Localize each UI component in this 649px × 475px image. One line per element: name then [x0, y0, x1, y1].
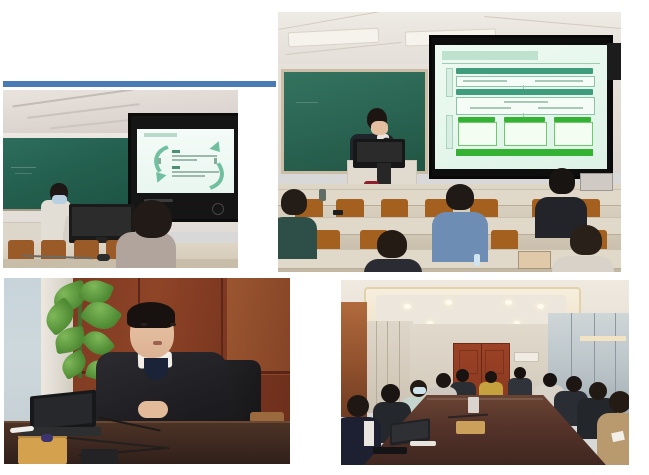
- screen-power-icon: [212, 203, 224, 215]
- slide-side-label: [446, 115, 453, 149]
- slide-side-label: [158, 158, 161, 164]
- attendee-head: [485, 371, 497, 383]
- chalk-mark: [296, 102, 319, 103]
- lecture-female-scene: [3, 90, 238, 268]
- slide-text-line: [172, 150, 180, 153]
- chalk-mark: [15, 173, 31, 174]
- attendee-head: [446, 184, 474, 210]
- attendee-head: [570, 225, 602, 255]
- microphone: [468, 397, 480, 414]
- pen: [410, 441, 436, 447]
- slide-text-line: [172, 155, 217, 157]
- paper-sheet: [611, 431, 625, 442]
- person-hair: [127, 302, 175, 328]
- person-eye: [170, 323, 176, 326]
- slide-column-box: [504, 122, 547, 146]
- attendee-body: [432, 212, 488, 261]
- attendee-face-mask: [413, 387, 426, 394]
- table-highlight: [427, 398, 542, 400]
- laptop-screen: [34, 393, 92, 429]
- attendee-head: [549, 168, 575, 194]
- panel-seam: [399, 321, 400, 414]
- slide-column-box: [554, 122, 594, 146]
- photo-interview: [4, 278, 290, 464]
- photo-meeting: [341, 280, 629, 465]
- attendee-head: [514, 367, 526, 379]
- photo-collage-page: [0, 0, 649, 475]
- laptop: [580, 173, 613, 191]
- person-eye: [141, 323, 147, 326]
- attendee-head: [281, 189, 307, 215]
- presenter-face: [371, 121, 388, 135]
- presentation-slide: [137, 129, 234, 193]
- phone: [333, 210, 343, 215]
- slide-rule: [442, 63, 600, 64]
- attendee-head: [589, 382, 607, 400]
- downlight: [537, 304, 544, 309]
- slide-text-line: [535, 80, 583, 82]
- mouse: [41, 434, 53, 442]
- monitor-screen: [72, 207, 131, 236]
- meeting-scene: [341, 280, 629, 465]
- attendee-body: [278, 217, 317, 259]
- slide-text-line: [172, 159, 197, 161]
- slide-text-line: [538, 107, 583, 109]
- attendee-head: [566, 376, 582, 392]
- slide-header-bar: [456, 68, 593, 74]
- accent-bar: [3, 81, 276, 87]
- phone: [373, 447, 408, 454]
- light-reflection: [580, 336, 626, 342]
- attendee-body: [552, 256, 614, 272]
- water-bottle: [474, 254, 480, 266]
- attendee-head: [436, 373, 451, 388]
- attendee-shirt: [364, 421, 374, 447]
- laptop: [518, 251, 551, 269]
- monitor-screen: [357, 142, 402, 162]
- attendee-head: [609, 391, 629, 413]
- slide-text-line: [172, 166, 180, 169]
- equipment-box: [81, 449, 118, 464]
- paper-bag: [18, 438, 67, 464]
- slide-column-box: [458, 122, 498, 146]
- slide-title-block: [442, 51, 538, 60]
- slide-footer-bar: [456, 149, 593, 155]
- slide-side-label: [214, 158, 217, 164]
- photo-lecture-male: [278, 12, 621, 272]
- slide-text-line: [504, 101, 549, 103]
- equipment-box: [456, 421, 485, 434]
- interview-scene: [4, 278, 290, 464]
- person-mouth: [153, 341, 162, 345]
- panel-seam: [376, 321, 377, 414]
- person-hands: [138, 401, 168, 418]
- attendee-head: [543, 373, 557, 387]
- presentation-slide: [435, 45, 606, 169]
- attendee-body: [364, 259, 422, 272]
- chalkboard: [3, 138, 142, 211]
- attendee-head: [377, 230, 407, 258]
- attendee-head: [132, 200, 172, 238]
- presenter-face-mask: [52, 195, 67, 204]
- wall-speaker: [607, 43, 621, 79]
- lecture-male-scene: [278, 12, 621, 272]
- laptop-screen: [392, 420, 427, 442]
- mouse: [97, 254, 110, 261]
- cup: [319, 189, 326, 201]
- slide-text-line: [172, 171, 219, 173]
- attendee-head: [381, 384, 400, 403]
- wall-sign: [514, 352, 539, 361]
- slide-side-label: [446, 68, 453, 97]
- projection-screen: [429, 35, 613, 179]
- chalk-mark: [11, 167, 36, 168]
- slide-text-line: [463, 80, 508, 82]
- chair: [8, 240, 34, 261]
- attendee-head: [456, 369, 469, 382]
- slide-text-line: [470, 107, 511, 109]
- slide-text-line: [172, 175, 205, 177]
- attendee-head: [347, 395, 369, 417]
- slide-title-block: [144, 133, 177, 137]
- slide-header-bar: [456, 89, 593, 95]
- photo-lecture-female: [3, 90, 238, 268]
